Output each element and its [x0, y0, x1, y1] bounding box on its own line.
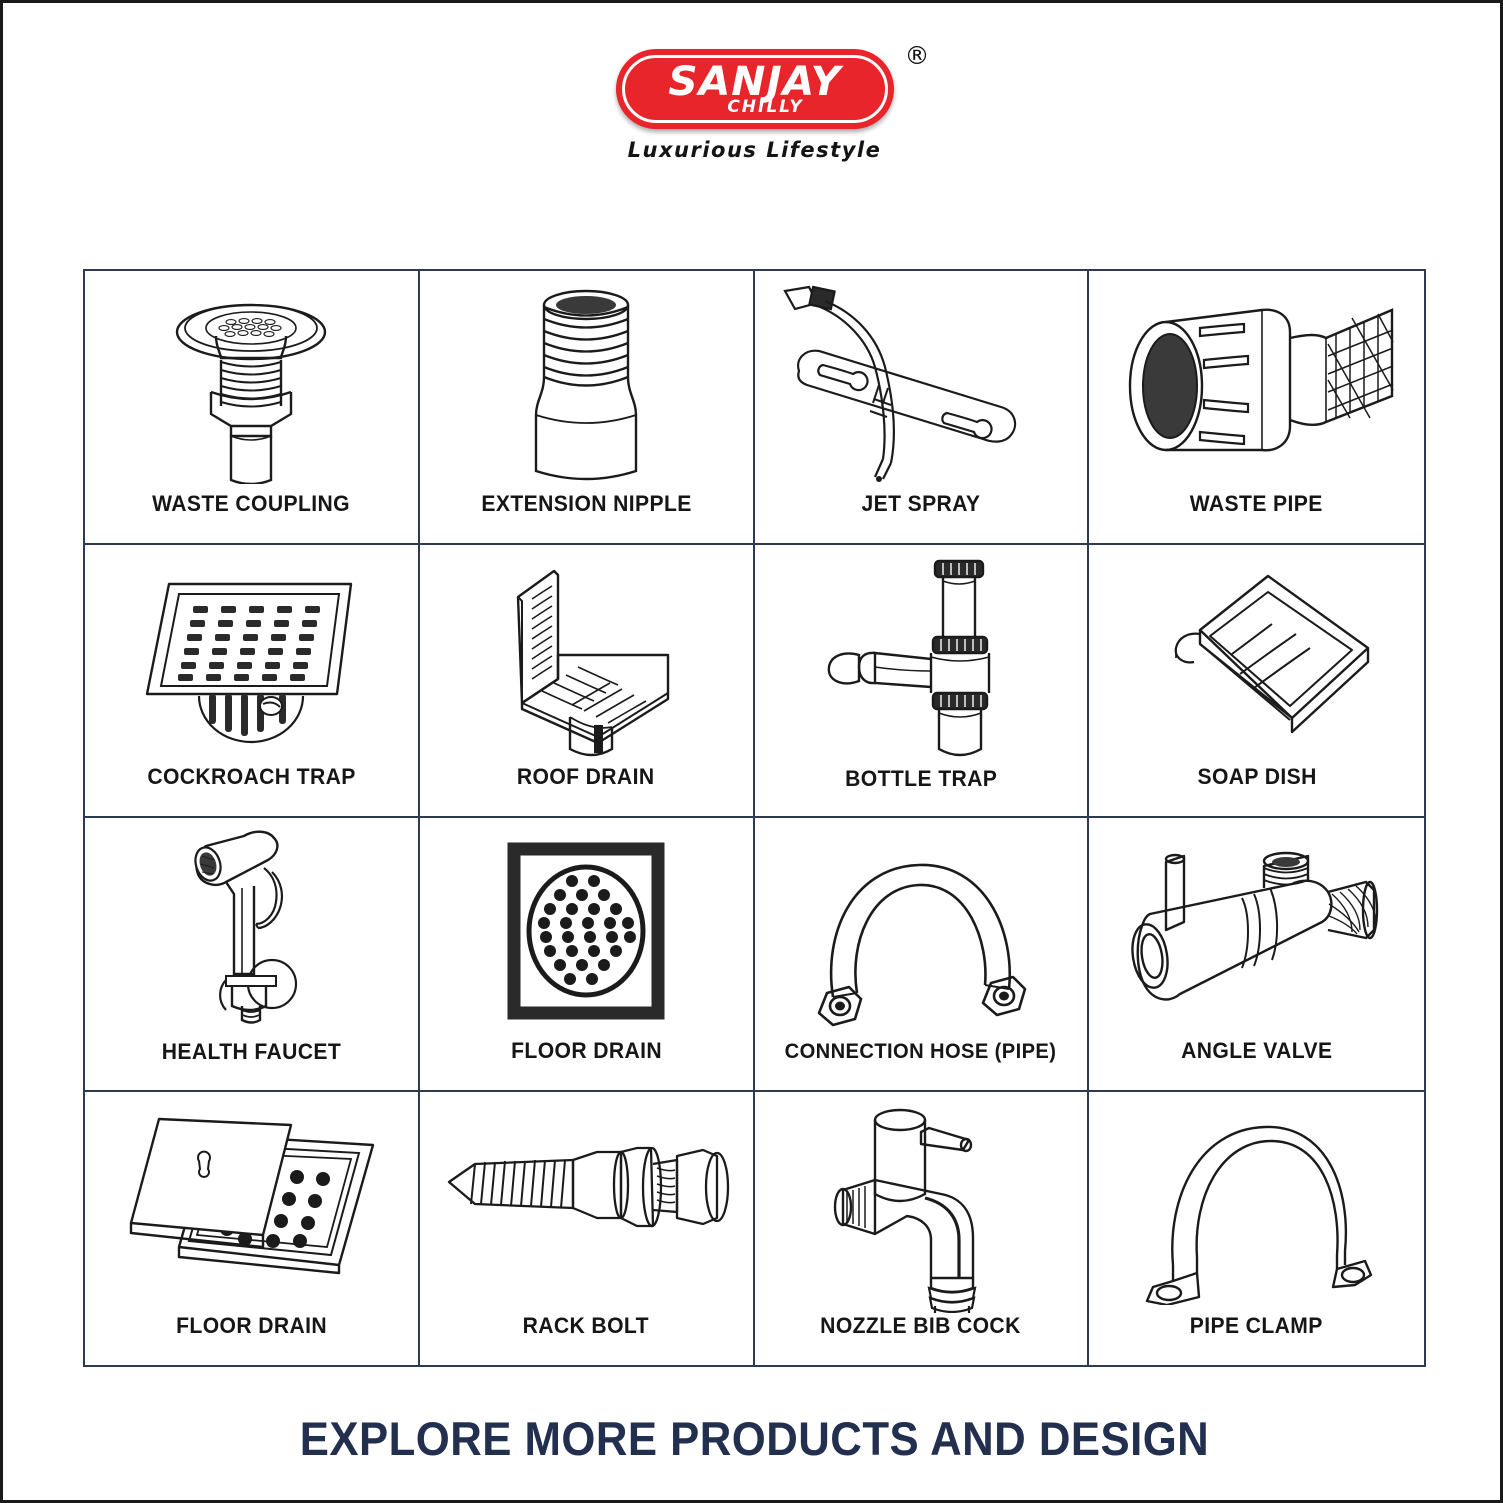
product-cell-jet-spray[interactable]: JET SPRAY [755, 271, 1090, 545]
waste-pipe-icon [1089, 271, 1424, 491]
rack-bolt-icon [420, 1092, 753, 1314]
product-label: BOTTLE TRAP [839, 766, 1003, 818]
footer-headline: EXPLORE MORE PRODUCTS AND DESIGN [56, 1411, 1454, 1466]
product-cell-floor-drain-cover[interactable]: FLOOR DRAIN [85, 1092, 420, 1366]
brand-logo: SANJAY CHILLY ® [616, 49, 894, 129]
product-label: FLOOR DRAIN [505, 1038, 667, 1090]
roof-drain-icon [420, 545, 753, 765]
product-label: EXTENSION NIPPLE [475, 491, 697, 543]
product-label: ANGLE VALVE [1175, 1038, 1338, 1090]
product-cell-roof-drain[interactable]: ROOF DRAIN [420, 545, 755, 819]
product-cell-pipe-clamp[interactable]: PIPE CLAMP [1089, 1092, 1424, 1366]
extension-nipple-icon [420, 271, 753, 491]
product-label: PIPE CLAMP [1184, 1313, 1328, 1365]
health-faucet-icon [85, 818, 418, 1039]
floor-drain-cover-icon [85, 1092, 418, 1314]
floor-drain-round-icon [420, 818, 753, 1038]
product-cell-extension-nipple[interactable]: EXTENSION NIPPLE [420, 271, 755, 545]
product-cell-angle-valve[interactable]: ANGLE VALVE [1089, 818, 1424, 1092]
brand-subname: CHILLY [727, 98, 803, 116]
product-label: SOAP DISH [1191, 764, 1322, 816]
waste-coupling-icon [85, 271, 418, 491]
product-cell-rack-bolt[interactable]: RACK BOLT [420, 1092, 755, 1366]
product-label: COCKROACH TRAP [141, 764, 361, 816]
brand-header: SANJAY CHILLY ® Luxurious Lifestyle [3, 49, 1503, 179]
product-cell-nozzle-bib-cock[interactable]: NOZZLE BIB COCK [755, 1092, 1090, 1366]
product-label: ROOF DRAIN [512, 764, 661, 816]
product-cell-waste-pipe[interactable]: WASTE PIPE [1089, 271, 1424, 545]
product-label: CONNECTION HOSE (PIPE) [779, 1040, 1062, 1090]
jet-spray-icon [755, 271, 1088, 491]
catalog-page: SANJAY CHILLY ® Luxurious Lifestyle [0, 0, 1503, 1503]
product-cell-floor-drain-round[interactable]: FLOOR DRAIN [420, 818, 755, 1092]
connection-hose-icon [755, 818, 1088, 1040]
product-label: HEALTH FAUCET [156, 1039, 347, 1091]
product-grid: WASTE COUPLING [83, 269, 1426, 1367]
bottle-trap-icon [755, 545, 1088, 766]
soap-dish-icon [1089, 545, 1424, 765]
product-label: WASTE COUPLING [147, 491, 356, 543]
nozzle-bib-cock-icon [755, 1092, 1088, 1314]
product-label: NOZZLE BIB COCK [815, 1313, 1027, 1365]
brand-tagline: Luxurious Lifestyle [628, 138, 882, 162]
product-cell-connection-hose[interactable]: CONNECTION HOSE (PIPE) [755, 818, 1090, 1092]
product-label: JET SPRAY [856, 491, 986, 543]
angle-valve-icon [1089, 818, 1424, 1038]
product-cell-health-faucet[interactable]: HEALTH FAUCET [85, 818, 420, 1092]
registered-trademark-icon: ® [905, 43, 930, 68]
product-label: RACK BOLT [517, 1313, 655, 1365]
product-cell-cockroach-trap[interactable]: COCKROACH TRAP [85, 545, 420, 819]
pipe-clamp-icon [1089, 1092, 1424, 1314]
product-label: FLOOR DRAIN [170, 1313, 332, 1365]
cockroach-trap-icon [85, 545, 418, 765]
product-cell-soap-dish[interactable]: SOAP DISH [1089, 545, 1424, 819]
product-cell-bottle-trap[interactable]: BOTTLE TRAP [755, 545, 1090, 819]
brand-name: SANJAY [668, 64, 841, 100]
product-label: WASTE PIPE [1184, 491, 1328, 543]
product-cell-waste-coupling[interactable]: WASTE COUPLING [85, 271, 420, 545]
